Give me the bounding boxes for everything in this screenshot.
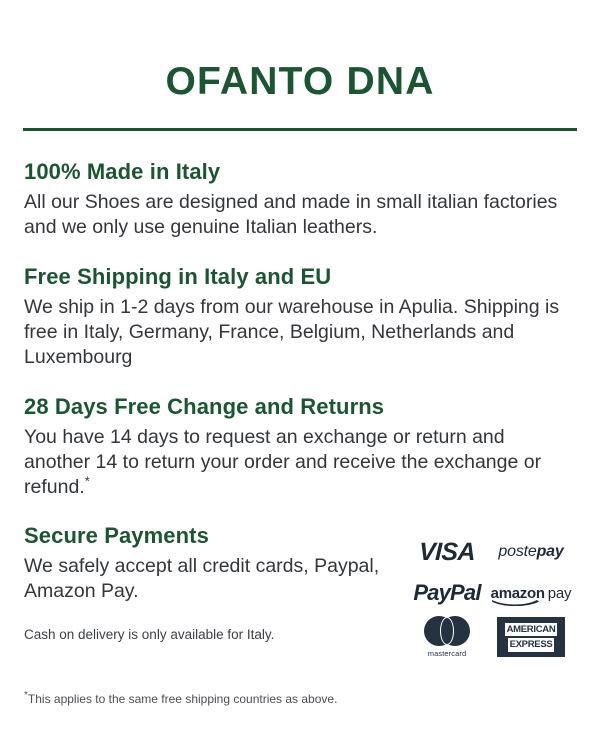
payment-logos: VISA postepay PayPal amazonpay xyxy=(408,531,576,661)
section-secure-payments: Secure Payments We safely accept all cre… xyxy=(24,523,576,661)
mastercard-icon: mastercard xyxy=(424,616,470,658)
section-heading: Free Shipping in Italy and EU xyxy=(24,264,576,290)
section-body-text: You have 14 days to request an exchange … xyxy=(24,426,541,498)
section-heading: Secure Payments xyxy=(24,523,394,549)
section-free-shipping: Free Shipping in Italy and EU We ship in… xyxy=(24,264,576,370)
cash-on-delivery-note: Cash on delivery is only available for I… xyxy=(24,626,394,644)
amazon-smile-icon xyxy=(492,599,540,606)
section-body: We safely accept all credit cards, Paypa… xyxy=(24,554,394,604)
asterisk-marker: * xyxy=(85,473,90,488)
section-body: You have 14 days to request an exchange … xyxy=(24,425,576,500)
mastercard-circles xyxy=(424,616,470,646)
american-express-icon: AMERICAN EXPRESS xyxy=(497,617,565,657)
mastercard-label: mastercard xyxy=(428,649,467,658)
page-title: OFANTO DNA xyxy=(0,0,600,101)
paypal-logo-cell: PayPal xyxy=(413,580,480,606)
section-heading: 100% Made in Italy xyxy=(24,159,576,185)
visa-logo-cell: VISA xyxy=(419,538,475,567)
postepay-label-bold: pay xyxy=(537,543,564,560)
mastercard-logo-cell: mastercard xyxy=(424,616,470,658)
amazon-pay-logo-cell: amazonpay xyxy=(491,586,572,601)
amex-line-2: EXPRESS xyxy=(508,638,555,652)
section-heading: 28 Days Free Change and Returns xyxy=(24,394,576,420)
postepay-label-light: poste xyxy=(498,543,536,560)
ofanto-dna-info-panel: OFANTO DNA 100% Made in Italy All our Sh… xyxy=(0,0,600,750)
american-express-logo-cell: AMERICAN EXPRESS xyxy=(497,617,565,657)
postepay-logo-cell: postepay xyxy=(498,543,563,561)
paypal-icon: PayPal xyxy=(413,580,480,606)
amazon-pay-label-light: pay xyxy=(548,585,572,602)
section-made-in-italy: 100% Made in Italy All our Shoes are des… xyxy=(24,159,576,240)
secure-payments-text: Secure Payments We safely accept all cre… xyxy=(24,523,394,643)
amazon-pay-icon: amazonpay xyxy=(491,586,572,601)
footnote: *This applies to the same free shipping … xyxy=(24,692,576,708)
footnote-text: This applies to the same free shipping c… xyxy=(28,692,338,706)
section-returns: 28 Days Free Change and Returns You have… xyxy=(24,394,576,500)
section-body: All our Shoes are designed and made in s… xyxy=(24,190,576,240)
postepay-icon: postepay xyxy=(498,543,563,561)
title-divider xyxy=(23,128,577,131)
section-body: We ship in 1-2 days from our warehouse i… xyxy=(24,295,576,370)
amex-line-1: AMERICAN xyxy=(505,623,558,637)
visa-icon: VISA xyxy=(419,538,476,567)
content-area: 100% Made in Italy All our Shoes are des… xyxy=(0,159,600,708)
